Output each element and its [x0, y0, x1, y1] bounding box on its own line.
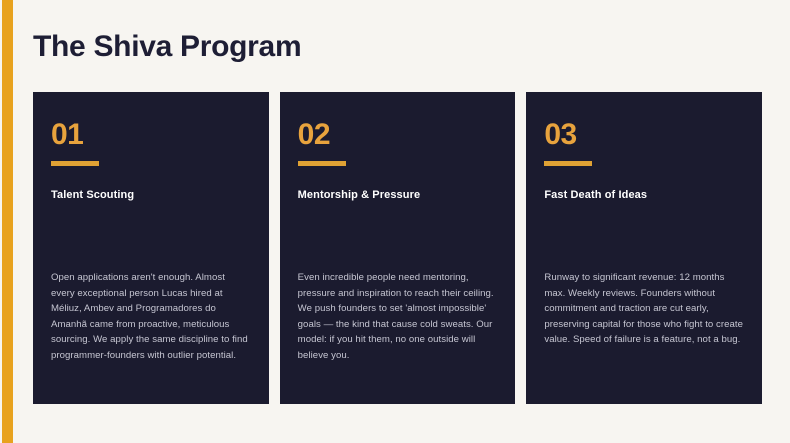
- page-title: The Shiva Program: [33, 30, 301, 65]
- card-body-text: Open applications aren't enough. Almost …: [51, 270, 251, 363]
- card-body-text: Runway to significant revenue: 12 months…: [544, 270, 744, 348]
- card-divider-rule: [298, 161, 346, 166]
- card-03[interactable]: 03 Fast Death of Ideas Runway to signifi…: [526, 92, 762, 404]
- card-divider-rule: [51, 161, 99, 166]
- cards-row: 01 Talent Scouting Open applications are…: [33, 92, 762, 404]
- card-number: 03: [544, 120, 744, 150]
- card-divider-rule: [544, 161, 592, 166]
- card-01[interactable]: 01 Talent Scouting Open applications are…: [33, 92, 269, 404]
- card-heading: Mentorship & Pressure: [298, 188, 498, 202]
- card-heading: Fast Death of Ideas: [544, 188, 744, 202]
- left-accent-bar: [2, 0, 13, 443]
- card-number: 01: [51, 120, 251, 150]
- card-heading: Talent Scouting: [51, 188, 251, 202]
- card-body-text: Even incredible people need mentoring, p…: [298, 270, 498, 363]
- card-02[interactable]: 02 Mentorship & Pressure Even incredible…: [280, 92, 516, 404]
- card-number: 02: [298, 120, 498, 150]
- slide-container: The Shiva Program 01 Talent Scouting Ope…: [0, 0, 790, 443]
